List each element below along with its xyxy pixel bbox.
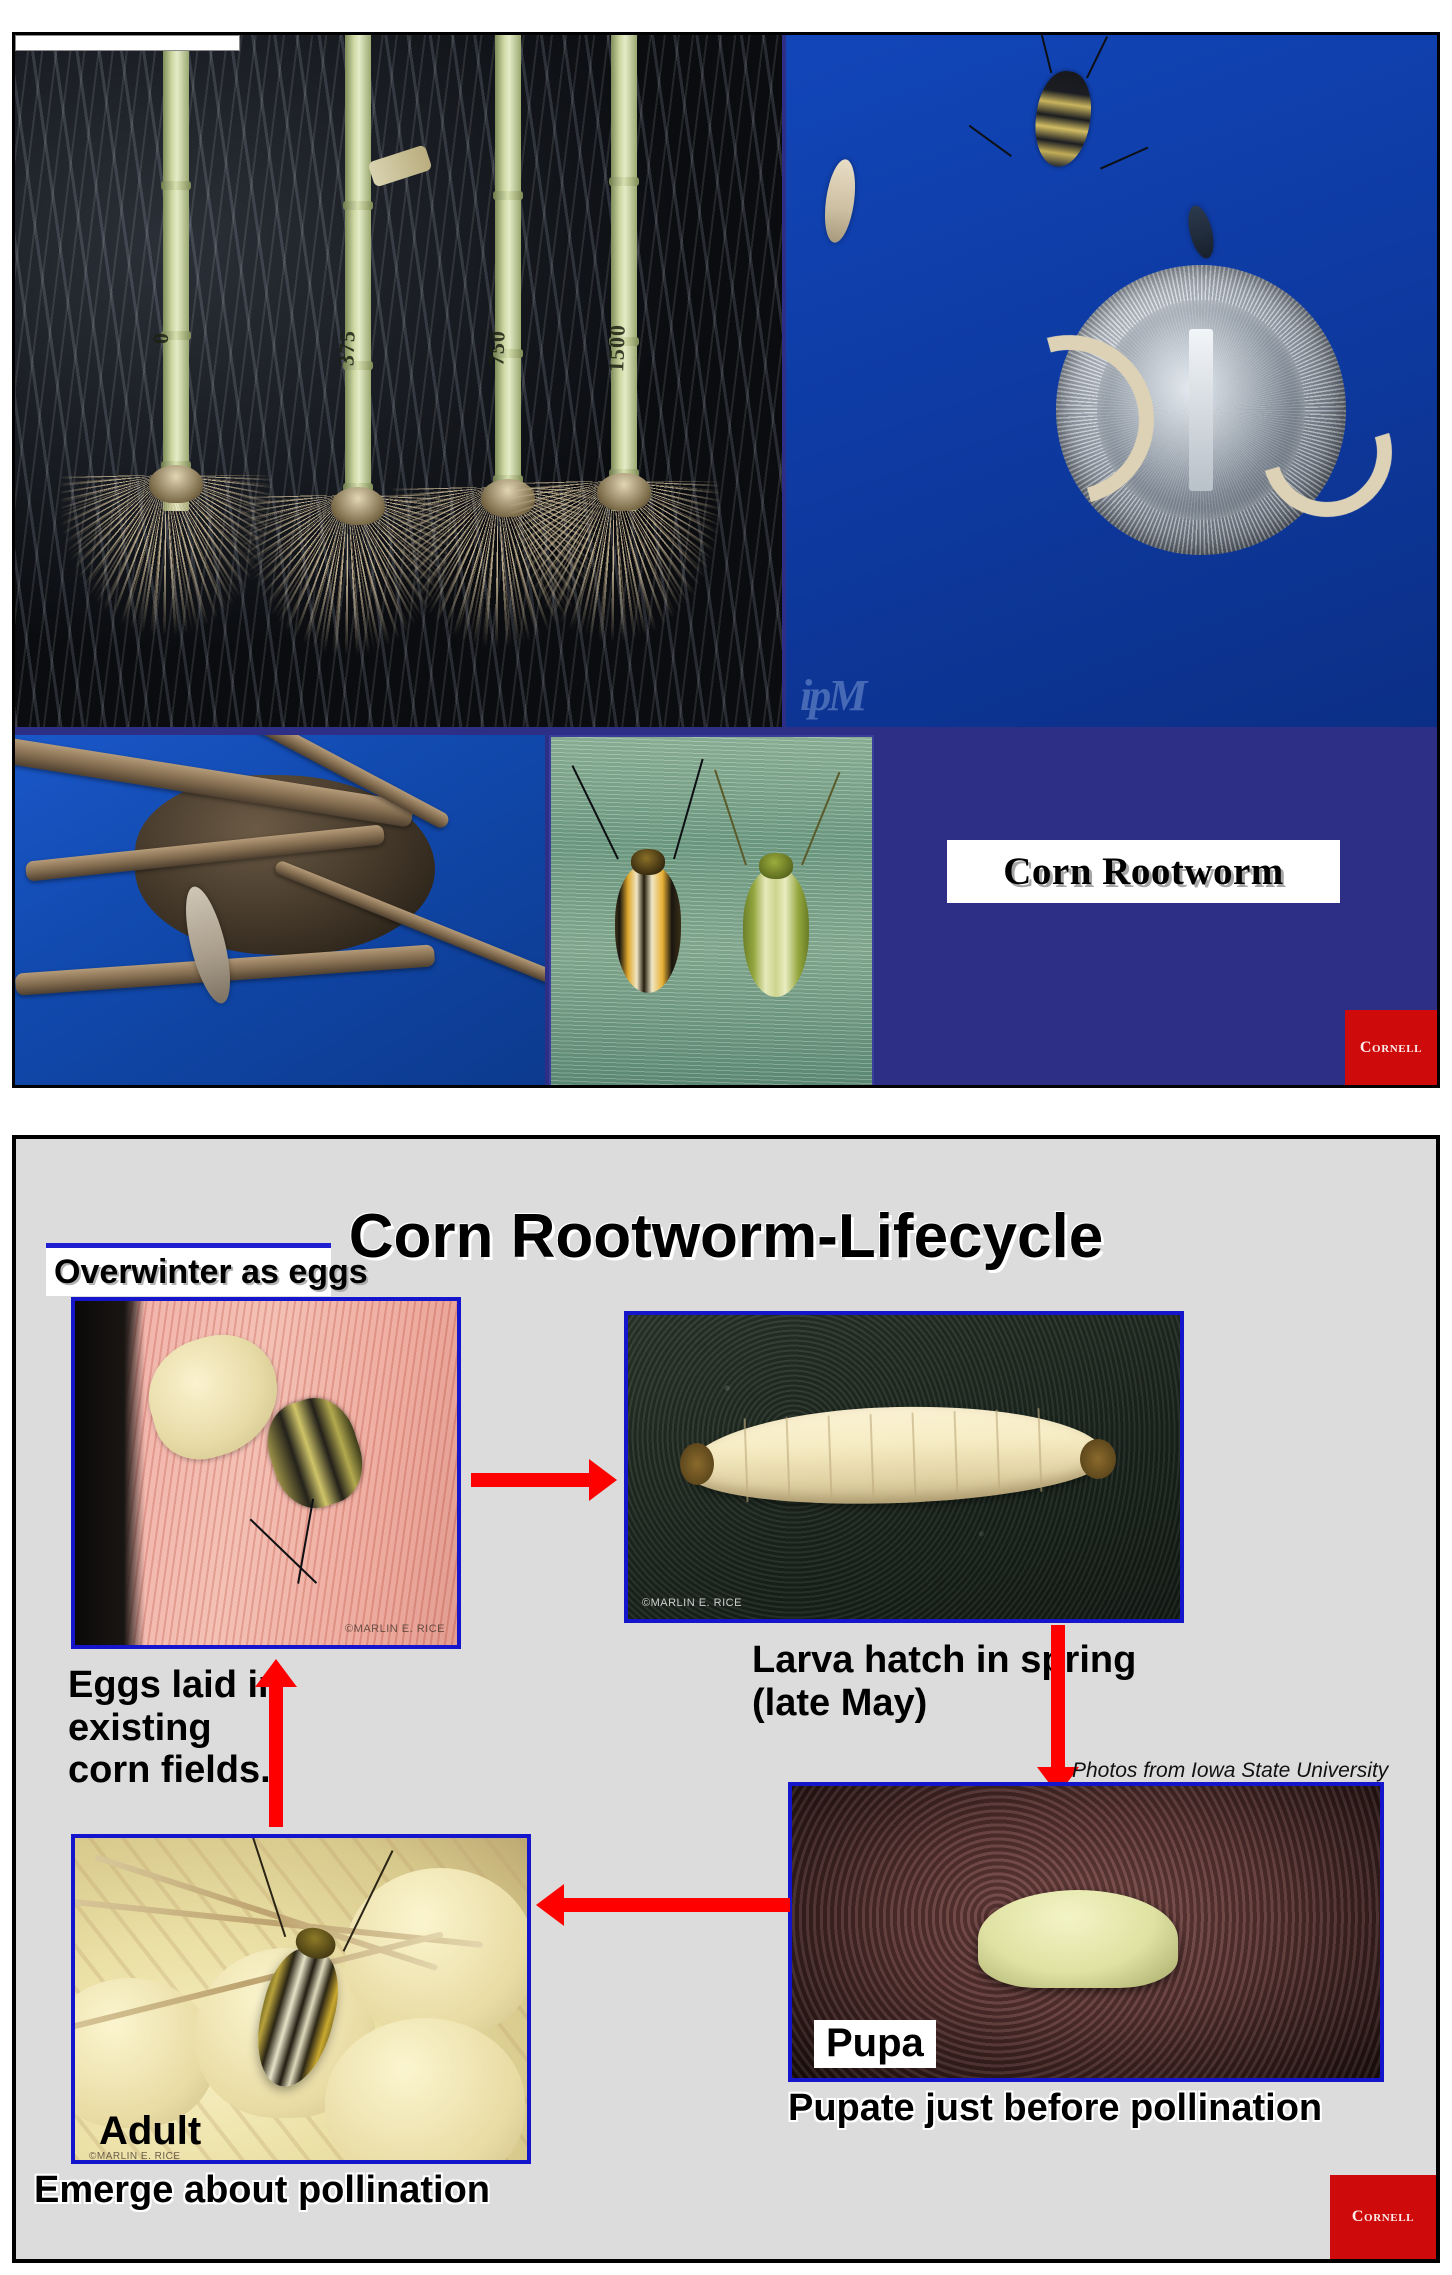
two-adult-beetles-photo [549,735,874,1088]
photo-credit-line: Photos from Iowa State University [1072,1759,1388,1783]
larva-specimen-2 [1184,203,1218,261]
stalk-label-750: 750 [483,330,510,367]
page-title: Corn Rootworm [947,840,1340,903]
cornell-logo: Cornell [1345,1010,1437,1085]
cornell-logo-text: Cornell [1352,2208,1414,2226]
beetle-larvae-dime-scale-photo: ipM [786,35,1440,727]
page-title-text: Corn Rootworm [1003,849,1284,894]
pupa-body [978,1890,1178,1988]
corn-stalk-roots-photo: 0 375 750 1500 [15,35,782,727]
eggs-photo-credit: ©MARLIN E. RICE [345,1623,445,1635]
pupa-photo: Pupa [788,1782,1384,2082]
eggs-photo: ©MARLIN E. RICE [71,1297,461,1649]
northern-corn-rootworm-beetle [743,869,809,997]
larva-photo: ©MARLIN E. RICE [624,1311,1184,1623]
adult-photo-credit: ©MARLIN E. RICE [89,2151,181,2162]
grub-head [680,1443,714,1485]
stalk-label-0: 0 [148,332,174,345]
pupa-label: Pupa [814,2020,936,2068]
eggs-caption: Eggs laid in existing corn fields. [68,1664,368,1792]
larva-caption: Larva hatch in spring (late May) [752,1639,1272,1724]
larva-photo-credit: ©MARLIN E. RICE [642,1597,742,1609]
larva-specimen-1 [820,157,859,244]
cornell-logo-text: Cornell [1360,1039,1422,1057]
pupa-caption: Pupate just before pollination [788,2087,1428,2130]
overwinter-label: Overwinter as eggs [46,1248,331,1296]
corn-rootworm-photo-slide: 0 375 750 1500 [12,32,1440,1088]
stalk-label-1500: 1500 [603,324,631,373]
adult-photo: Adult ©MARLIN E. RICE [71,1834,531,2164]
corn-rootworm-lifecycle-slide: Corn Rootworm-Lifecycle Overwinter as eg… [12,1135,1440,2263]
western-corn-rootworm-beetle [615,865,681,993]
adult-label: Adult [87,2108,213,2156]
cornell-logo: Cornell [1330,2175,1436,2259]
dried-leaf [367,144,432,187]
rootworm-grub [684,1400,1107,1511]
larva-on-roots-photo [15,735,545,1088]
arrow-adult-to-eggs [254,1659,298,1827]
ipm-watermark: ipM [800,670,864,721]
grub-tail [1080,1439,1116,1479]
stalk-label-375: 375 [333,330,360,367]
window-tab-stub [15,35,240,51]
adult-beetle-silhouette [1030,68,1097,171]
arrow-eggs-to-larva [471,1459,617,1501]
adult-caption: Emerge about pollination [34,2169,594,2212]
arrow-pupa-to-adult [536,1884,790,1926]
